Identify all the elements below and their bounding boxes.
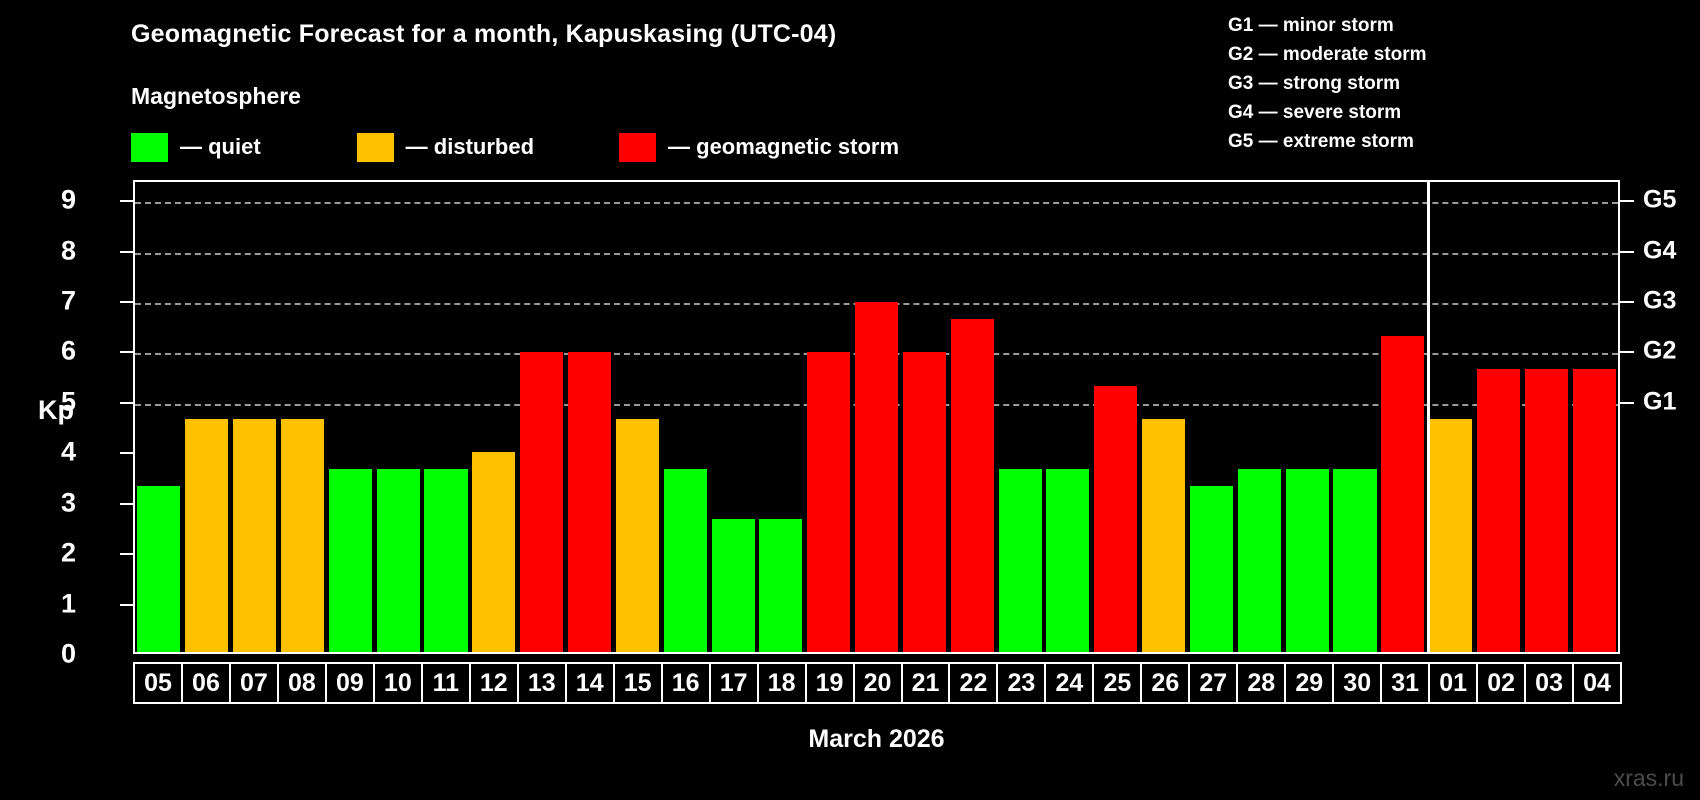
g-tick-G5: G5 (1643, 186, 1676, 215)
bar-slot (231, 182, 279, 652)
bar-17 (712, 519, 755, 653)
y-tick-mark-9 (120, 200, 133, 202)
month-separator (1427, 180, 1430, 654)
x-axis-date-labels: 0506070809101112131415161718192021222324… (133, 662, 1620, 704)
y-tick-mark-6 (120, 351, 133, 353)
date-label-23: 23 (996, 662, 1046, 704)
bar-22 (951, 319, 994, 653)
date-label-18: 18 (757, 662, 807, 704)
bar-06 (185, 419, 228, 653)
g-tick-mark-G4 (1620, 251, 1634, 253)
bar-slot (1475, 182, 1523, 652)
bar-slot (613, 182, 661, 652)
bar-slot (661, 182, 709, 652)
x-axis-title: March 2026 (133, 725, 1620, 754)
g-scale-key: G1 — minor stormG2 — moderate stormG3 — … (1228, 11, 1427, 156)
bar-slot (757, 182, 805, 652)
bar-14 (568, 352, 611, 652)
bar-23 (999, 469, 1042, 653)
watermark: xras.ru (1614, 765, 1684, 792)
bar-slot (1235, 182, 1283, 652)
g-tick-mark-G2 (1620, 351, 1634, 353)
legend: — quiet— disturbed— geomagnetic storm (131, 132, 899, 162)
y-tick-mark-5 (120, 402, 133, 404)
bar-slot (1570, 182, 1618, 652)
y-tick-0: 0 (36, 639, 76, 670)
date-label-12: 12 (469, 662, 519, 704)
date-label-13: 13 (517, 662, 567, 704)
bar-13 (520, 352, 563, 652)
legend-item-quiet: — quiet (131, 133, 261, 162)
bar-30 (1333, 469, 1376, 653)
bar-27 (1190, 486, 1233, 653)
bar-16 (664, 469, 707, 653)
legend-swatch-quiet (131, 133, 168, 162)
bar-03 (1525, 369, 1568, 653)
bar-slot (374, 182, 422, 652)
date-label-30: 30 (1332, 662, 1382, 704)
date-label-14: 14 (565, 662, 615, 704)
y-tick-8: 8 (36, 235, 76, 266)
bar-31 (1381, 336, 1424, 653)
bar-04 (1573, 369, 1616, 653)
bars-container (135, 182, 1618, 652)
bar-slot (135, 182, 183, 652)
bar-12 (472, 452, 515, 652)
bar-07 (233, 419, 276, 653)
y-tick-2: 2 (36, 538, 76, 569)
y-tick-mark-1 (120, 604, 133, 606)
bar-slot (901, 182, 949, 652)
magnetosphere-heading: Magnetosphere (131, 83, 301, 110)
bar-slot (853, 182, 901, 652)
date-label-17: 17 (709, 662, 759, 704)
bar-slot (948, 182, 996, 652)
bar-08 (281, 419, 324, 653)
date-label-29: 29 (1284, 662, 1334, 704)
bar-10 (377, 469, 420, 653)
legend-label-storm: — geomagnetic storm (668, 134, 899, 160)
bar-11 (424, 469, 467, 653)
date-label-06: 06 (181, 662, 231, 704)
bar-slot (326, 182, 374, 652)
legend-swatch-storm (619, 133, 656, 162)
g-tick-mark-G3 (1620, 301, 1634, 303)
bar-slot (1140, 182, 1188, 652)
bar-20 (855, 302, 898, 652)
y-tick-3: 3 (36, 487, 76, 518)
date-label-31: 31 (1380, 662, 1430, 704)
legend-label-disturbed: — disturbed (406, 134, 534, 160)
g-tick-G1: G1 (1643, 387, 1676, 416)
g-tick-mark-G1 (1620, 402, 1634, 404)
date-label-02: 02 (1476, 662, 1526, 704)
g-tick-G2: G2 (1643, 337, 1676, 366)
y-tick-9: 9 (36, 185, 76, 216)
page-title: Geomagnetic Forecast for a month, Kapusk… (131, 20, 836, 49)
date-label-25: 25 (1092, 662, 1142, 704)
date-label-26: 26 (1140, 662, 1190, 704)
bar-slot (1044, 182, 1092, 652)
date-label-19: 19 (805, 662, 855, 704)
bar-19 (807, 352, 850, 652)
bar-slot (518, 182, 566, 652)
bar-02 (1477, 369, 1520, 653)
bar-01 (1429, 419, 1472, 653)
date-label-05: 05 (133, 662, 183, 704)
y-tick-7: 7 (36, 286, 76, 317)
chart-plot-area (133, 180, 1620, 654)
g-tick-G4: G4 (1643, 236, 1676, 265)
g-scale-entry-1: G1 — minor storm (1228, 11, 1427, 40)
bar-slot (1522, 182, 1570, 652)
bar-slot (470, 182, 518, 652)
bar-28 (1238, 469, 1281, 653)
date-label-09: 09 (325, 662, 375, 704)
legend-item-storm: — geomagnetic storm (619, 133, 899, 162)
bar-slot (566, 182, 614, 652)
date-label-15: 15 (613, 662, 663, 704)
y-tick-mark-4 (120, 452, 133, 454)
bar-slot (1331, 182, 1379, 652)
g-scale-entry-4: G4 — severe storm (1228, 98, 1427, 127)
bar-slot (279, 182, 327, 652)
date-label-22: 22 (948, 662, 998, 704)
g-scale-entry-3: G3 — strong storm (1228, 69, 1427, 98)
bar-slot (805, 182, 853, 652)
bar-slot (709, 182, 757, 652)
bar-slot (996, 182, 1044, 652)
bar-29 (1286, 469, 1329, 653)
bar-15 (616, 419, 659, 653)
date-label-03: 03 (1524, 662, 1574, 704)
bar-24 (1046, 469, 1089, 653)
bar-slot (1283, 182, 1331, 652)
bar-18 (759, 519, 802, 653)
y-tick-mark-7 (120, 301, 133, 303)
g-scale-entry-5: G5 — extreme storm (1228, 127, 1427, 156)
bar-21 (903, 352, 946, 652)
y-tick-5: 5 (36, 386, 76, 417)
bar-26 (1142, 419, 1185, 653)
date-label-08: 08 (277, 662, 327, 704)
date-label-04: 04 (1572, 662, 1622, 704)
date-label-28: 28 (1236, 662, 1286, 704)
bar-slot (1188, 182, 1236, 652)
date-label-10: 10 (373, 662, 423, 704)
g-tick-G3: G3 (1643, 287, 1676, 316)
y-tick-mark-2 (120, 553, 133, 555)
bar-25 (1094, 386, 1137, 653)
g-scale-entry-2: G2 — moderate storm (1228, 40, 1427, 69)
date-label-11: 11 (421, 662, 471, 704)
y-tick-mark-3 (120, 503, 133, 505)
bar-slot (422, 182, 470, 652)
date-label-20: 20 (853, 662, 903, 704)
date-label-01: 01 (1428, 662, 1478, 704)
bar-05 (137, 486, 180, 653)
y-tick-4: 4 (36, 437, 76, 468)
y-tick-mark-8 (120, 251, 133, 253)
date-label-16: 16 (661, 662, 711, 704)
date-label-27: 27 (1188, 662, 1238, 704)
legend-item-disturbed: — disturbed (357, 133, 534, 162)
bar-slot (1092, 182, 1140, 652)
date-label-07: 07 (229, 662, 279, 704)
bar-slot (1379, 182, 1427, 652)
g-tick-mark-G5 (1620, 200, 1634, 202)
legend-swatch-disturbed (357, 133, 394, 162)
bar-slot (183, 182, 231, 652)
y-tick-1: 1 (36, 588, 76, 619)
bar-09 (329, 469, 372, 653)
date-label-24: 24 (1044, 662, 1094, 704)
date-label-21: 21 (901, 662, 951, 704)
bar-slot (1427, 182, 1475, 652)
y-tick-6: 6 (36, 336, 76, 367)
legend-label-quiet: — quiet (180, 134, 261, 160)
